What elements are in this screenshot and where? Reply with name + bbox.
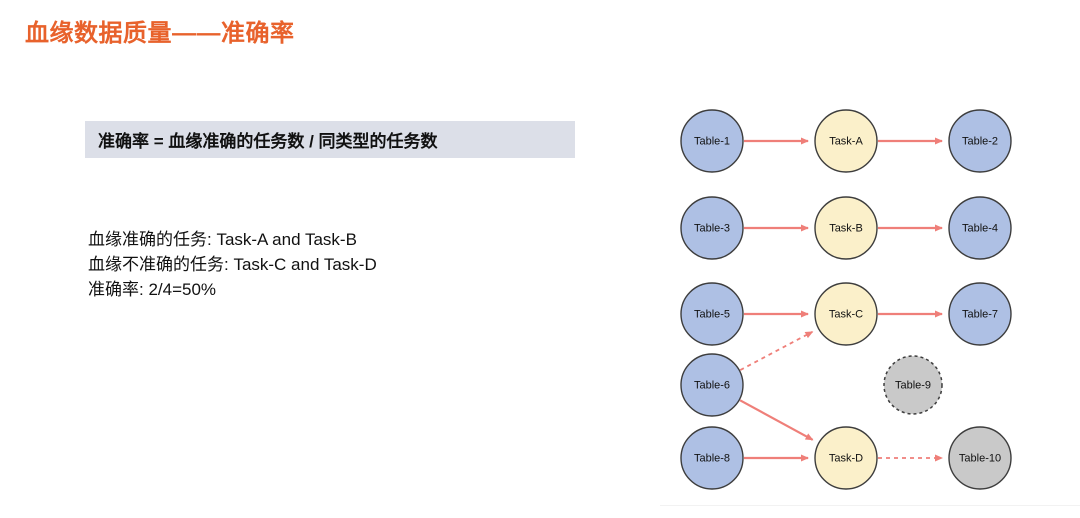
lineage-diagram: Table-1Task-ATable-2Table-3Task-BTable-4… xyxy=(660,96,1060,516)
node-table-1[interactable]: Table-1 xyxy=(681,110,743,172)
node-table-10[interactable]: Table-10 xyxy=(949,427,1011,489)
node-table-4[interactable]: Table-4 xyxy=(949,197,1011,259)
node-label-table-10: Table-10 xyxy=(959,452,1001,464)
node-label-task-b: Task-B xyxy=(829,222,863,234)
notes-block: 血缘准确的任务: Task-A and Task-B 血缘不准确的任务: Tas… xyxy=(88,227,377,302)
node-table-7[interactable]: Table-7 xyxy=(949,283,1011,345)
node-table-8[interactable]: Table-8 xyxy=(681,427,743,489)
node-label-task-c: Task-C xyxy=(829,308,863,320)
node-label-table-4: Table-4 xyxy=(962,222,998,234)
notes-line-rate: 准确率: 2/4=50% xyxy=(88,277,377,302)
node-task-c[interactable]: Task-C xyxy=(815,283,877,345)
node-label-table-3: Table-3 xyxy=(694,222,730,234)
node-task-a[interactable]: Task-A xyxy=(815,110,877,172)
node-label-table-9: Table-9 xyxy=(895,379,931,391)
node-label-table-8: Table-8 xyxy=(694,452,730,464)
footer-divider xyxy=(660,505,1080,506)
page-title: 血缘数据质量——准确率 xyxy=(25,13,295,48)
node-layer: Table-1Task-ATable-2Table-3Task-BTable-4… xyxy=(681,110,1011,489)
node-table-6[interactable]: Table-6 xyxy=(681,354,743,416)
node-table-9[interactable]: Table-9 xyxy=(884,356,942,414)
notes-line-accurate: 血缘准确的任务: Task-A and Task-B xyxy=(88,227,377,252)
edge-table-6-to-task-d xyxy=(740,400,813,440)
node-label-table-5: Table-5 xyxy=(694,308,730,320)
node-label-table-7: Table-7 xyxy=(962,308,998,320)
node-table-5[interactable]: Table-5 xyxy=(681,283,743,345)
node-label-task-d: Task-D xyxy=(829,452,863,464)
formula-text: 准确率 = 血缘准确的任务数 / 同类型的任务数 xyxy=(98,127,438,152)
formula-callout: 准确率 = 血缘准确的任务数 / 同类型的任务数 xyxy=(85,121,575,158)
node-task-b[interactable]: Task-B xyxy=(815,197,877,259)
edge-table-6-to-task-c xyxy=(740,332,812,370)
lineage-graph-canvas: Table-1Task-ATable-2Table-3Task-BTable-4… xyxy=(660,96,1060,516)
node-label-task-a: Task-A xyxy=(829,135,863,147)
node-label-table-2: Table-2 xyxy=(962,135,998,147)
node-table-2[interactable]: Table-2 xyxy=(949,110,1011,172)
node-table-3[interactable]: Table-3 xyxy=(681,197,743,259)
notes-line-inaccurate: 血缘不准确的任务: Task-C and Task-D xyxy=(88,252,377,277)
node-label-table-1: Table-1 xyxy=(694,135,730,147)
node-label-table-6: Table-6 xyxy=(694,379,730,391)
node-task-d[interactable]: Task-D xyxy=(815,427,877,489)
